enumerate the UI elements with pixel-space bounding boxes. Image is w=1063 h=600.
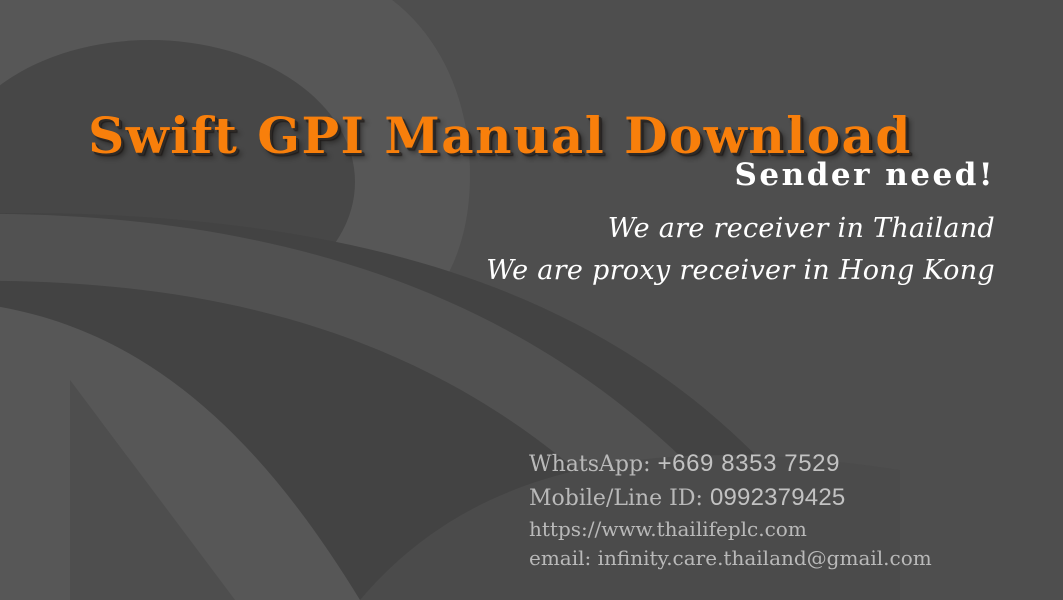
script-line-receiver-thailand: We are receiver in Thailand — [486, 208, 995, 250]
contact-block: WhatsApp: +669 8353 7529 Mobile/Line ID:… — [529, 447, 932, 573]
contact-label-whatsapp: WhatsApp: — [529, 452, 651, 477]
contact-line-mobile-line-id: Mobile/Line ID: 0992379425 — [529, 481, 932, 515]
contact-line-email: email: infinity.care.thailand@gmail.com — [529, 544, 932, 573]
subtitle-sender-need: Sender need! — [735, 157, 995, 193]
subtitle-row: Sender need! — [735, 157, 995, 193]
contact-value-website[interactable]: https://www.thailifeplc.com — [529, 517, 807, 541]
slide-canvas: Swift GPI Manual Download Sender need! W… — [0, 0, 1063, 600]
page-title: Swift GPI Manual Download — [88, 110, 912, 163]
contact-label-mobile-line-id: Mobile/Line ID: — [529, 486, 703, 511]
contact-line-website[interactable]: https://www.thailifeplc.com — [529, 515, 932, 544]
contact-label-email: email: — [529, 546, 591, 570]
contact-value-whatsapp[interactable]: +669 8353 7529 — [658, 450, 841, 477]
contact-value-email[interactable]: infinity.care.thailand@gmail.com — [598, 546, 932, 570]
script-line-proxy-hongkong: We are proxy receiver in Hong Kong — [486, 250, 995, 292]
script-statements: We are receiver in Thailand We are proxy… — [486, 208, 995, 292]
contact-value-mobile-line-id[interactable]: 0992379425 — [710, 484, 845, 511]
contact-line-whatsapp: WhatsApp: +669 8353 7529 — [529, 447, 932, 481]
